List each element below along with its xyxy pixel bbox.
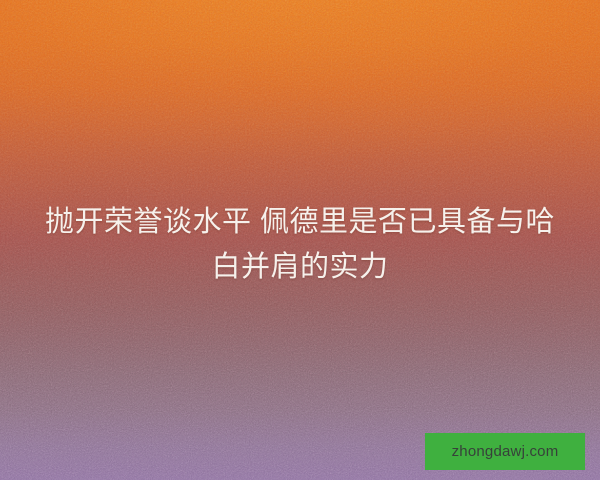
- watermark-badge: zhongdawj.com: [425, 433, 585, 470]
- watermark-label: zhongdawj.com: [452, 443, 559, 460]
- image-canvas: 抛开荣誉谈水平 佩德里是否已具备与哈白并肩的实力 zhongdawj.com: [0, 0, 600, 480]
- gradient-background: [0, 0, 600, 480]
